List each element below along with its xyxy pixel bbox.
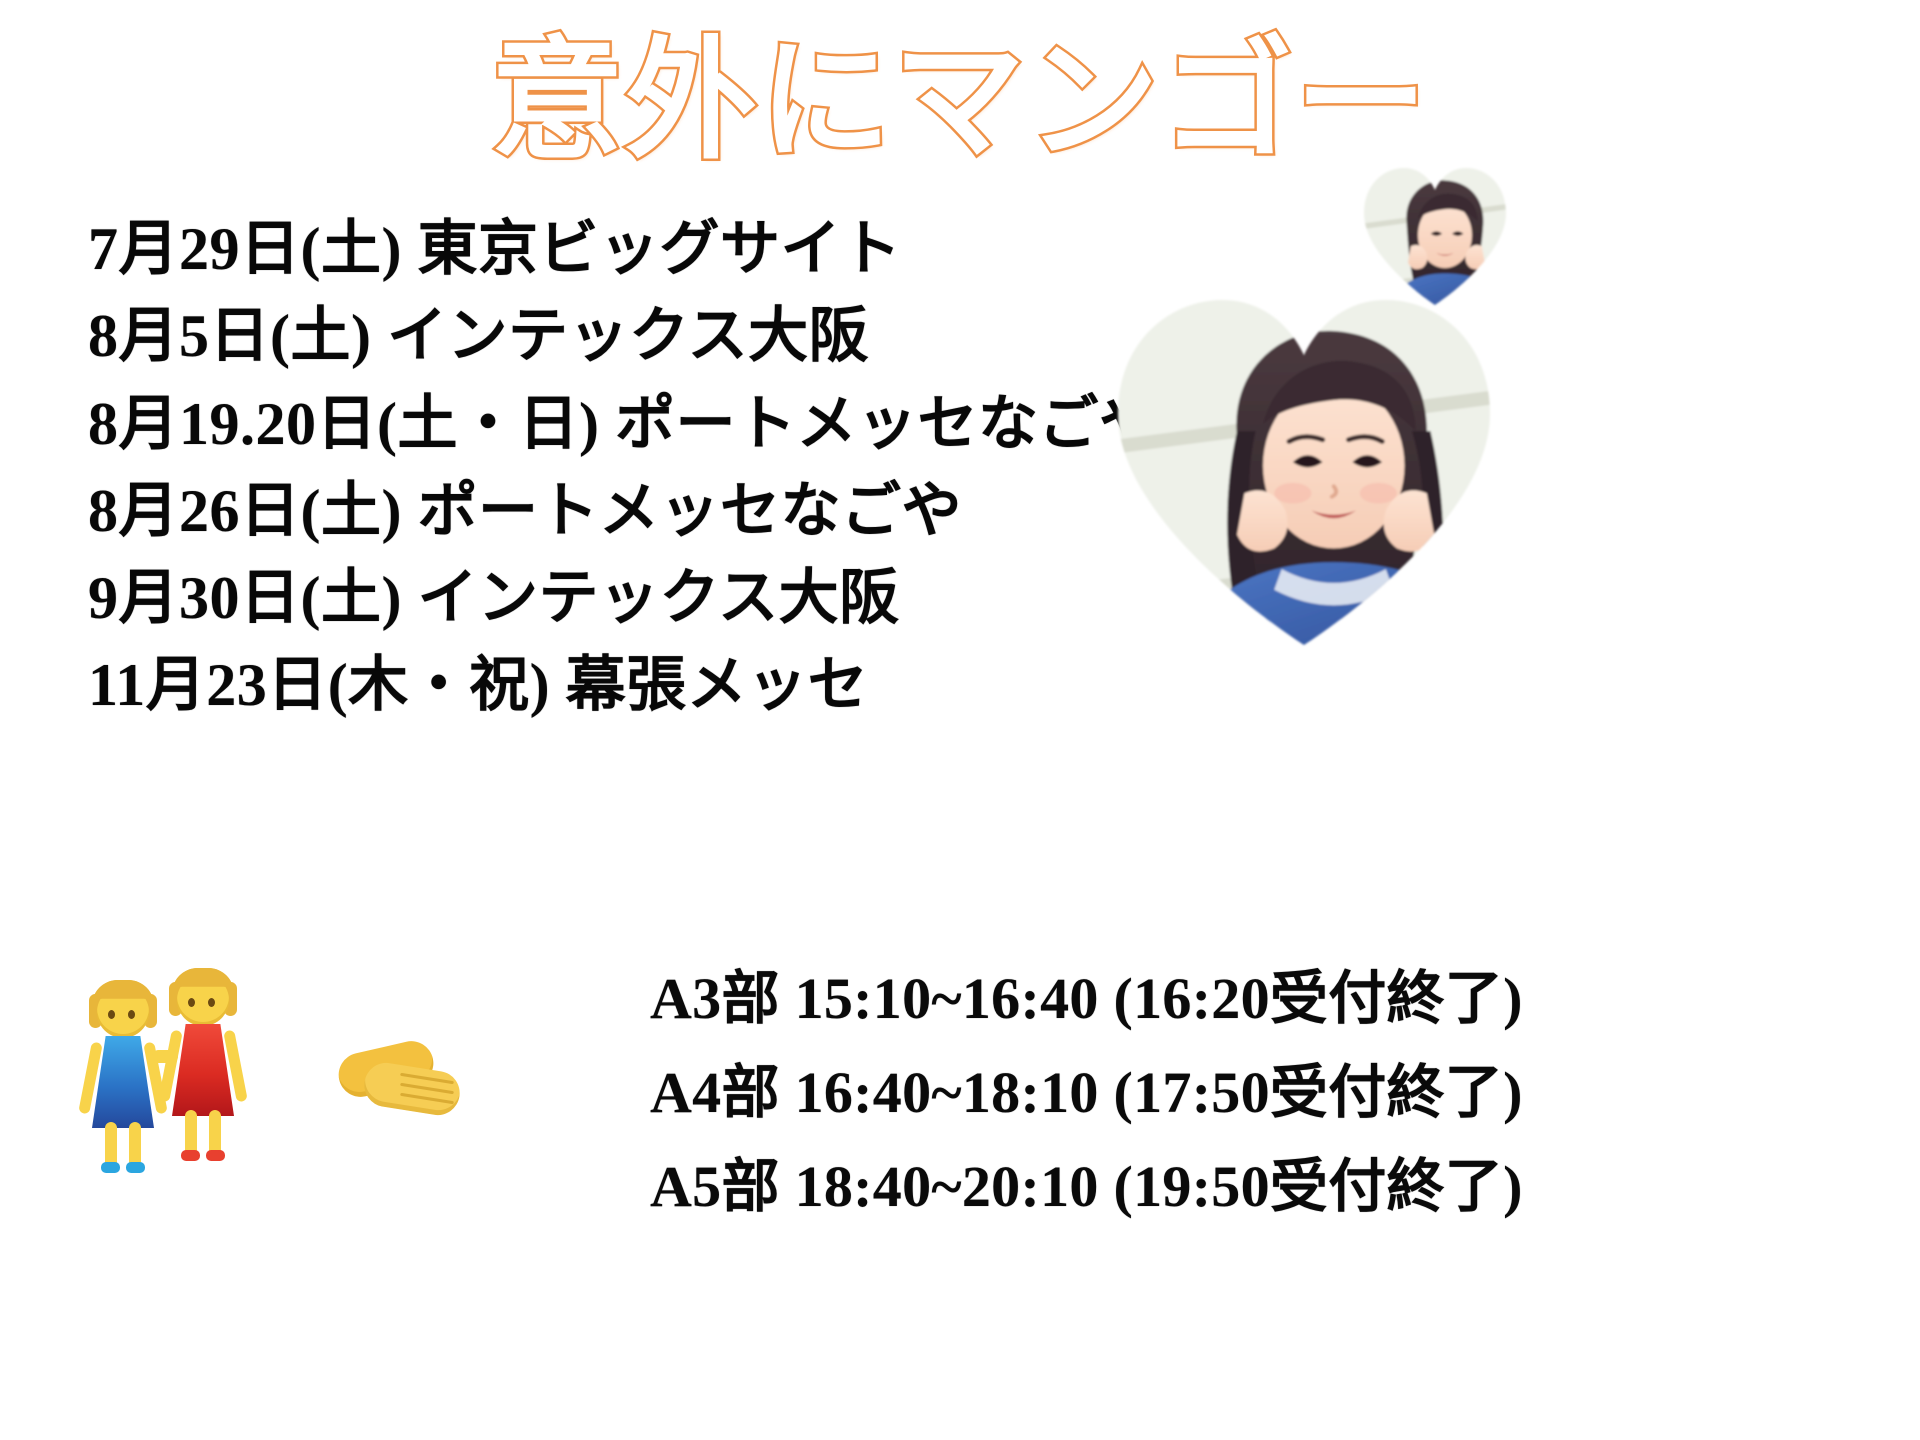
- event-date-list: 7月29日(土) 東京ビッグサイト 8月5日(土) インテックス大阪 8月19.…: [88, 206, 1268, 730]
- handshake-icon: [338, 1021, 468, 1141]
- schedule-row: A5部 18:40~20:10 (19:50受付終了): [650, 1140, 1920, 1234]
- page-title: 意外にマンゴー: [0, 28, 1920, 176]
- time-schedule-list: A3部 15:10~16:40 (16:20受付終了) A4部 16:40~18…: [650, 952, 1920, 1234]
- event-date-line: 11月23日(木・祝) 幕張メッセ: [88, 642, 1268, 729]
- decoration-emoji-row: [78, 968, 468, 1168]
- two-women-holding-hands-icon: [78, 968, 278, 1168]
- event-date-line: 9月30日(土) インテックス大阪: [88, 555, 1268, 642]
- event-date-line: 8月5日(土) インテックス大阪: [88, 293, 1268, 380]
- event-date-line: 8月19.20日(土・日) ポートメッセなごや: [88, 381, 1268, 468]
- event-date-line: 7月29日(土) 東京ビッグサイト: [88, 206, 1268, 293]
- schedule-row: A3部 15:10~16:40 (16:20受付終了): [650, 952, 1920, 1046]
- event-date-line: 8月26日(土) ポートメッセなごや: [88, 468, 1268, 555]
- heart-photo-small: [1364, 168, 1506, 305]
- schedule-row: A4部 16:40~18:10 (17:50受付終了): [650, 1046, 1920, 1140]
